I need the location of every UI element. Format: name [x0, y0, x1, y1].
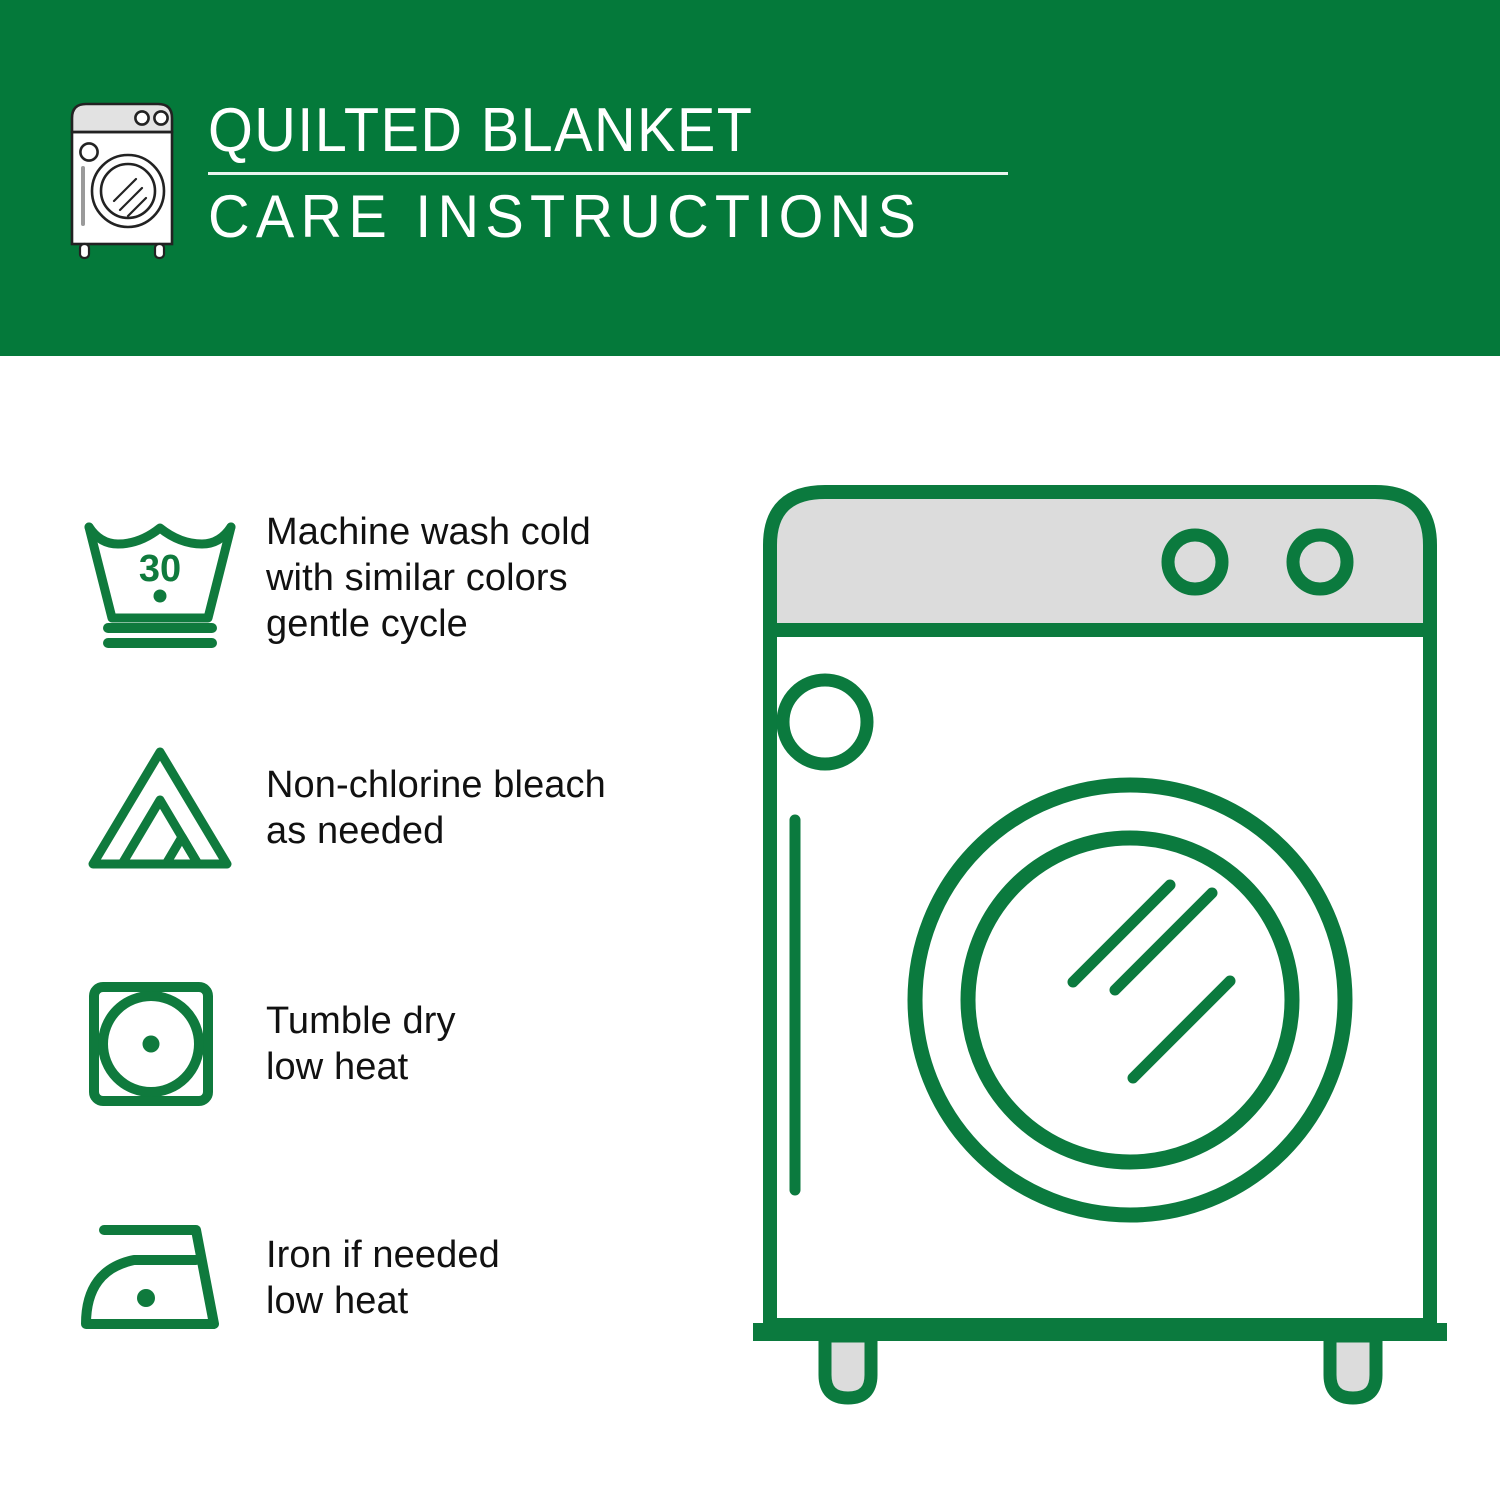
machine-knob-left [1168, 535, 1222, 589]
header-content: QUILTED BLANKET CARE INSTRUCTIONS [58, 96, 1008, 266]
care-row-iron: Iron if needed low heat [72, 1208, 712, 1348]
page-subtitle: CARE INSTRUCTIONS [208, 185, 976, 249]
washing-machine-icon [58, 96, 186, 266]
care-row-wash: 30 Machine wash cold with similar colors… [72, 508, 712, 648]
care-label-bleach: Non-chlorine bleach as needed [266, 762, 606, 854]
care-row-dry: Tumble dry low heat [72, 974, 712, 1114]
machine-dispenser [783, 680, 867, 764]
front-load-washing-machine-illustration [740, 470, 1480, 1430]
tumble-dry-low-heat-icon [72, 974, 248, 1114]
machine-knob-right [1293, 535, 1347, 589]
iron-low-heat-icon [72, 1208, 248, 1348]
care-row-bleach: Non-chlorine bleach as needed [72, 738, 712, 878]
wash-tub-30-gentle-icon: 30 [72, 508, 248, 648]
care-instructions-list: 30 Machine wash cold with similar colors… [0, 356, 740, 1500]
care-label-wash: Machine wash cold with similar colors ge… [266, 509, 591, 647]
header-title-group: QUILTED BLANKET CARE INSTRUCTIONS [208, 96, 1008, 249]
care-label-dry: Tumble dry low heat [266, 998, 456, 1090]
non-chlorine-bleach-triangle-icon [72, 738, 248, 878]
header-banner: QUILTED BLANKET CARE INSTRUCTIONS [0, 0, 1500, 356]
page-title: QUILTED BLANKET [208, 98, 952, 164]
machine-door-inner [968, 838, 1292, 1162]
wash-temperature-label: 30 [139, 548, 181, 590]
title-divider [208, 172, 1008, 175]
machine-leg-left [825, 1336, 871, 1398]
machine-leg-right [1330, 1336, 1376, 1398]
care-label-iron: Iron if needed low heat [266, 1232, 500, 1324]
